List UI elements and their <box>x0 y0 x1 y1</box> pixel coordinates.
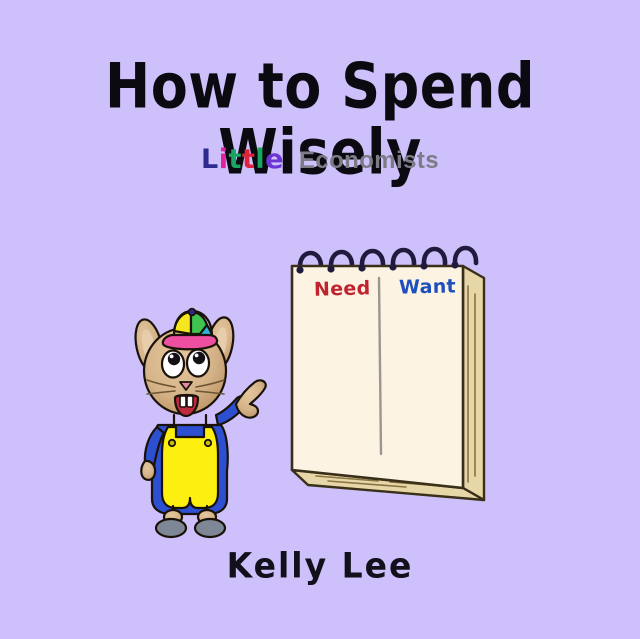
cap-brim <box>163 335 217 349</box>
series-letter-3: t <box>242 144 255 175</box>
series-wordmark: LittleEconomists <box>0 144 640 175</box>
pupil-right <box>193 352 205 364</box>
series-letter-4: l <box>255 144 265 175</box>
series-subtitle: Economists <box>299 147 439 174</box>
hand-left <box>141 461 155 480</box>
hand-right-pointing <box>236 380 266 417</box>
series-letter-1: i <box>219 144 229 175</box>
notepad-column-label-want: Want <box>399 275 456 298</box>
series-letter-2: t <box>229 144 242 175</box>
series-letter-0: L <box>201 144 219 175</box>
shoe-left <box>156 519 186 537</box>
tooth-right <box>187 396 193 407</box>
author-name: Kelly Lee <box>0 545 640 586</box>
overalls-button-right <box>205 440 211 446</box>
series-spacer <box>284 167 299 168</box>
overalls <box>162 427 218 508</box>
book-cover: How to Spend Wisely LittleEconomists <box>0 0 640 639</box>
page-stack-right <box>463 266 484 500</box>
notepad-column-label-need: Need <box>314 277 371 300</box>
overalls-button-left <box>169 440 175 446</box>
mouse-character-illustration <box>128 303 274 545</box>
eye-highlight-left <box>170 355 174 359</box>
tooth-left <box>180 396 186 407</box>
pupil-left <box>168 353 180 365</box>
eye-highlight-right <box>195 354 199 358</box>
series-letter-5: e <box>265 144 284 175</box>
notepad-illustration: Need Want <box>286 242 495 510</box>
cap-button <box>189 309 196 316</box>
shoe-right <box>195 519 225 537</box>
